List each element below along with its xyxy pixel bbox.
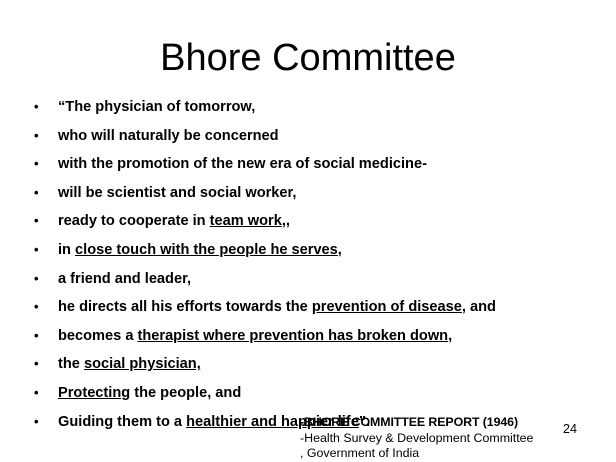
attribution-committee-name: -Health Survey & Development Committee bbox=[300, 431, 590, 447]
list-item-label: in close touch with the people he serves… bbox=[58, 242, 342, 258]
attribution-block: -BHORE COMMITTEE REPORT (1946) -Health S… bbox=[300, 415, 590, 462]
plain-phrase: in bbox=[58, 242, 75, 258]
list-item: •ready to cooperate in team work,, bbox=[30, 207, 600, 236]
list-item-label: a friend and leader, bbox=[58, 271, 191, 287]
slide-number: 24 bbox=[563, 422, 577, 436]
list-item-label: will be scientist and social worker, bbox=[58, 185, 296, 201]
bullet-point-icon: • bbox=[34, 122, 39, 151]
bullet-point-icon: • bbox=[34, 379, 39, 408]
list-item: •“The physician of tomorrow, bbox=[30, 93, 600, 122]
bullet-point-icon: • bbox=[34, 322, 39, 351]
list-item: •who will naturally be concerned bbox=[30, 122, 600, 151]
bullet-point-icon: • bbox=[34, 293, 39, 322]
underlined-phrase: prevention of disease bbox=[312, 299, 462, 315]
underlined-phrase: therapist where prevention has broken do… bbox=[138, 328, 449, 344]
list-item-label: with the promotion of the new era of soc… bbox=[58, 156, 427, 172]
list-item-label: becomes a therapist where prevention has… bbox=[58, 328, 452, 344]
presentation-slide: Bhore Committee •“The physician of tomor… bbox=[0, 0, 616, 462]
bullet-point-icon: • bbox=[34, 93, 39, 122]
bullet-point-icon: • bbox=[34, 265, 39, 294]
list-item: •with the promotion of the new era of so… bbox=[30, 150, 600, 179]
list-item-label: ready to cooperate in team work,, bbox=[58, 213, 290, 229]
plain-phrase: becomes a bbox=[58, 328, 138, 344]
list-item: •Protecting the people, and bbox=[30, 379, 600, 408]
bullet-point-icon: • bbox=[34, 150, 39, 179]
list-item: •a friend and leader, bbox=[30, 265, 600, 294]
underlined-phrase: team work bbox=[210, 213, 282, 229]
plain-phrase: , and bbox=[462, 299, 496, 315]
plain-phrase: ,, bbox=[282, 213, 290, 229]
underlined-phrase: social physician, bbox=[84, 356, 201, 372]
attribution-government: , Government of India bbox=[300, 446, 590, 462]
page-title: Bhore Committee bbox=[0, 36, 616, 80]
plain-phrase: he directs all his efforts towards the bbox=[58, 299, 312, 315]
list-item: •becomes a therapist where prevention ha… bbox=[30, 322, 600, 351]
plain-phrase: the people, and bbox=[130, 385, 241, 401]
bullet-point-icon: • bbox=[34, 408, 39, 437]
attribution-report-title: -BHORE COMMITTEE REPORT (1946) bbox=[300, 415, 590, 431]
plain-phrase: Guiding them to a bbox=[58, 414, 186, 430]
list-item: •in close touch with the people he serve… bbox=[30, 236, 600, 265]
list-item: •the social physician, bbox=[30, 350, 600, 379]
list-item-label: the social physician, bbox=[58, 356, 201, 372]
plain-phrase: ready to cooperate in bbox=[58, 213, 210, 229]
list-item: •will be scientist and social worker, bbox=[30, 179, 600, 208]
list-item: •he directs all his efforts towards the … bbox=[30, 293, 600, 322]
bullet-point-icon: • bbox=[34, 236, 39, 265]
list-item-label: “The physician of tomorrow, bbox=[58, 99, 255, 115]
bullet-point-icon: • bbox=[34, 350, 39, 379]
bullet-list: •“The physician of tomorrow,•who will na… bbox=[30, 93, 600, 436]
underlined-phrase: close touch with the people he serves bbox=[75, 242, 338, 258]
bullet-point-icon: • bbox=[34, 179, 39, 208]
bullet-point-icon: • bbox=[34, 207, 39, 236]
plain-phrase: , bbox=[448, 328, 452, 344]
list-item-label: who will naturally be concerned bbox=[58, 128, 279, 144]
list-item-label: Protecting the people, and bbox=[58, 385, 241, 401]
list-item-label: he directs all his efforts towards the p… bbox=[58, 299, 496, 315]
plain-phrase: the bbox=[58, 356, 84, 372]
plain-phrase: , bbox=[338, 242, 342, 258]
underlined-phrase: Protecting bbox=[58, 385, 130, 401]
